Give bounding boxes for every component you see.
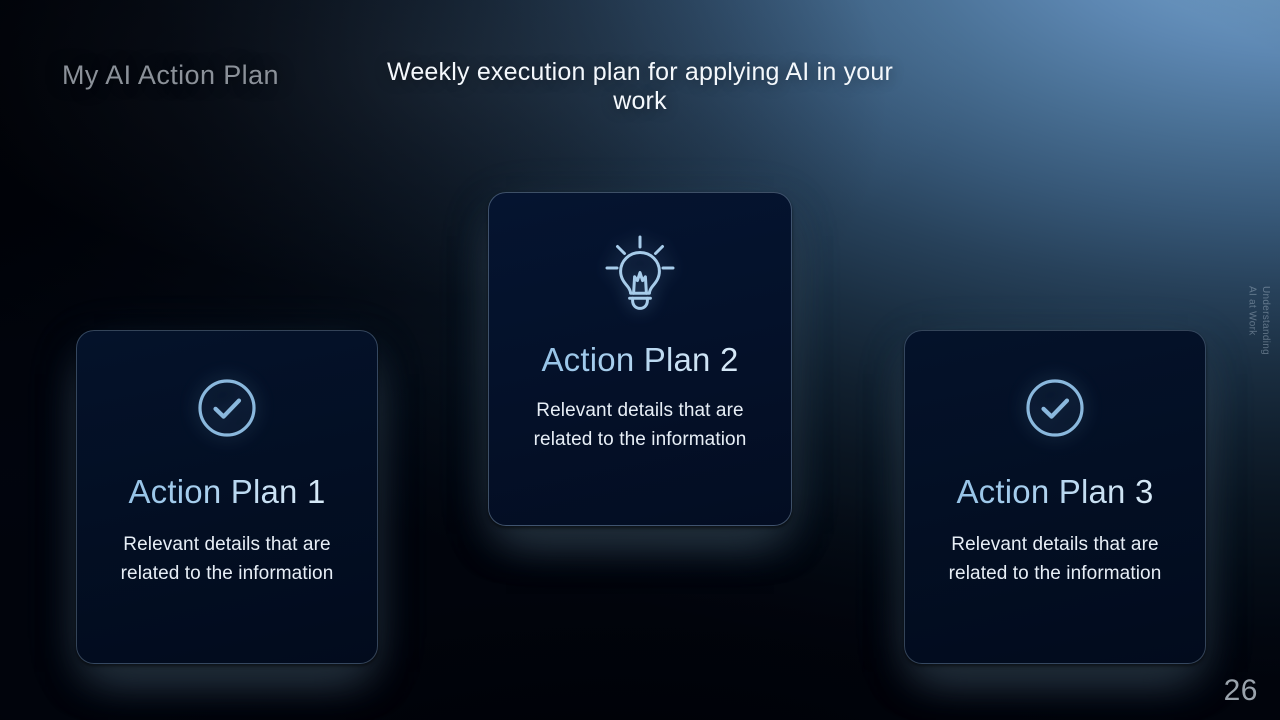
action-plan-card-1[interactable]: Action Plan 1 Relevant details that are … bbox=[76, 330, 378, 664]
deck-side-label: Understanding AI at Work bbox=[1245, 286, 1272, 355]
slide-canvas: My AI Action Plan Weekly execution plan … bbox=[0, 0, 1280, 720]
check-circle-icon bbox=[195, 377, 259, 439]
card-title: Action Plan 1 bbox=[128, 475, 325, 510]
check-circle-icon bbox=[1023, 377, 1087, 439]
action-plan-card-2[interactable]: Action Plan 2 Relevant details that are … bbox=[488, 192, 792, 526]
card-title: Action Plan 3 bbox=[956, 475, 1153, 510]
page-number: 26 bbox=[1224, 674, 1258, 708]
lightbulb-icon bbox=[601, 235, 679, 313]
deck-title: My AI Action Plan bbox=[62, 60, 279, 91]
action-plan-card-3[interactable]: Action Plan 3 Relevant details that are … bbox=[904, 330, 1206, 664]
card-body: Relevant details that are related to the… bbox=[520, 396, 760, 456]
slide-subtitle: Weekly execution plan for applying AI in… bbox=[380, 58, 900, 117]
card-body: Relevant details that are related to the… bbox=[935, 530, 1175, 590]
card-title: Action Plan 2 bbox=[541, 343, 738, 378]
card-body: Relevant details that are related to the… bbox=[107, 530, 347, 590]
